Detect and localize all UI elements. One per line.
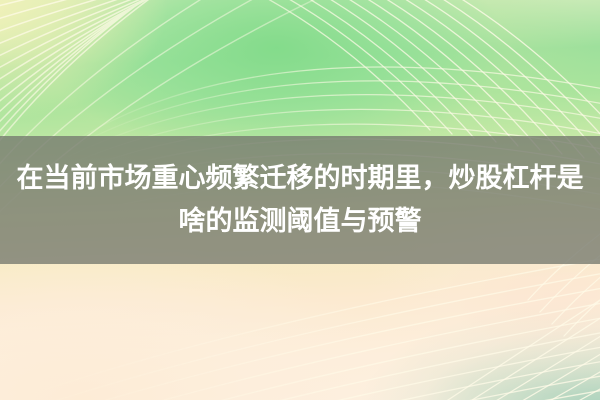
- page-title: 在当前市场重心频繁迁移的时期里，炒股杠杆是啥的监测阈值与预警: [0, 157, 600, 243]
- headline-band: 在当前市场重心频繁迁移的时期里，炒股杠杆是啥的监测阈值与预警: [0, 136, 600, 264]
- banner-image: 在当前市场重心频繁迁移的时期里，炒股杠杆是啥的监测阈值与预警: [0, 0, 600, 400]
